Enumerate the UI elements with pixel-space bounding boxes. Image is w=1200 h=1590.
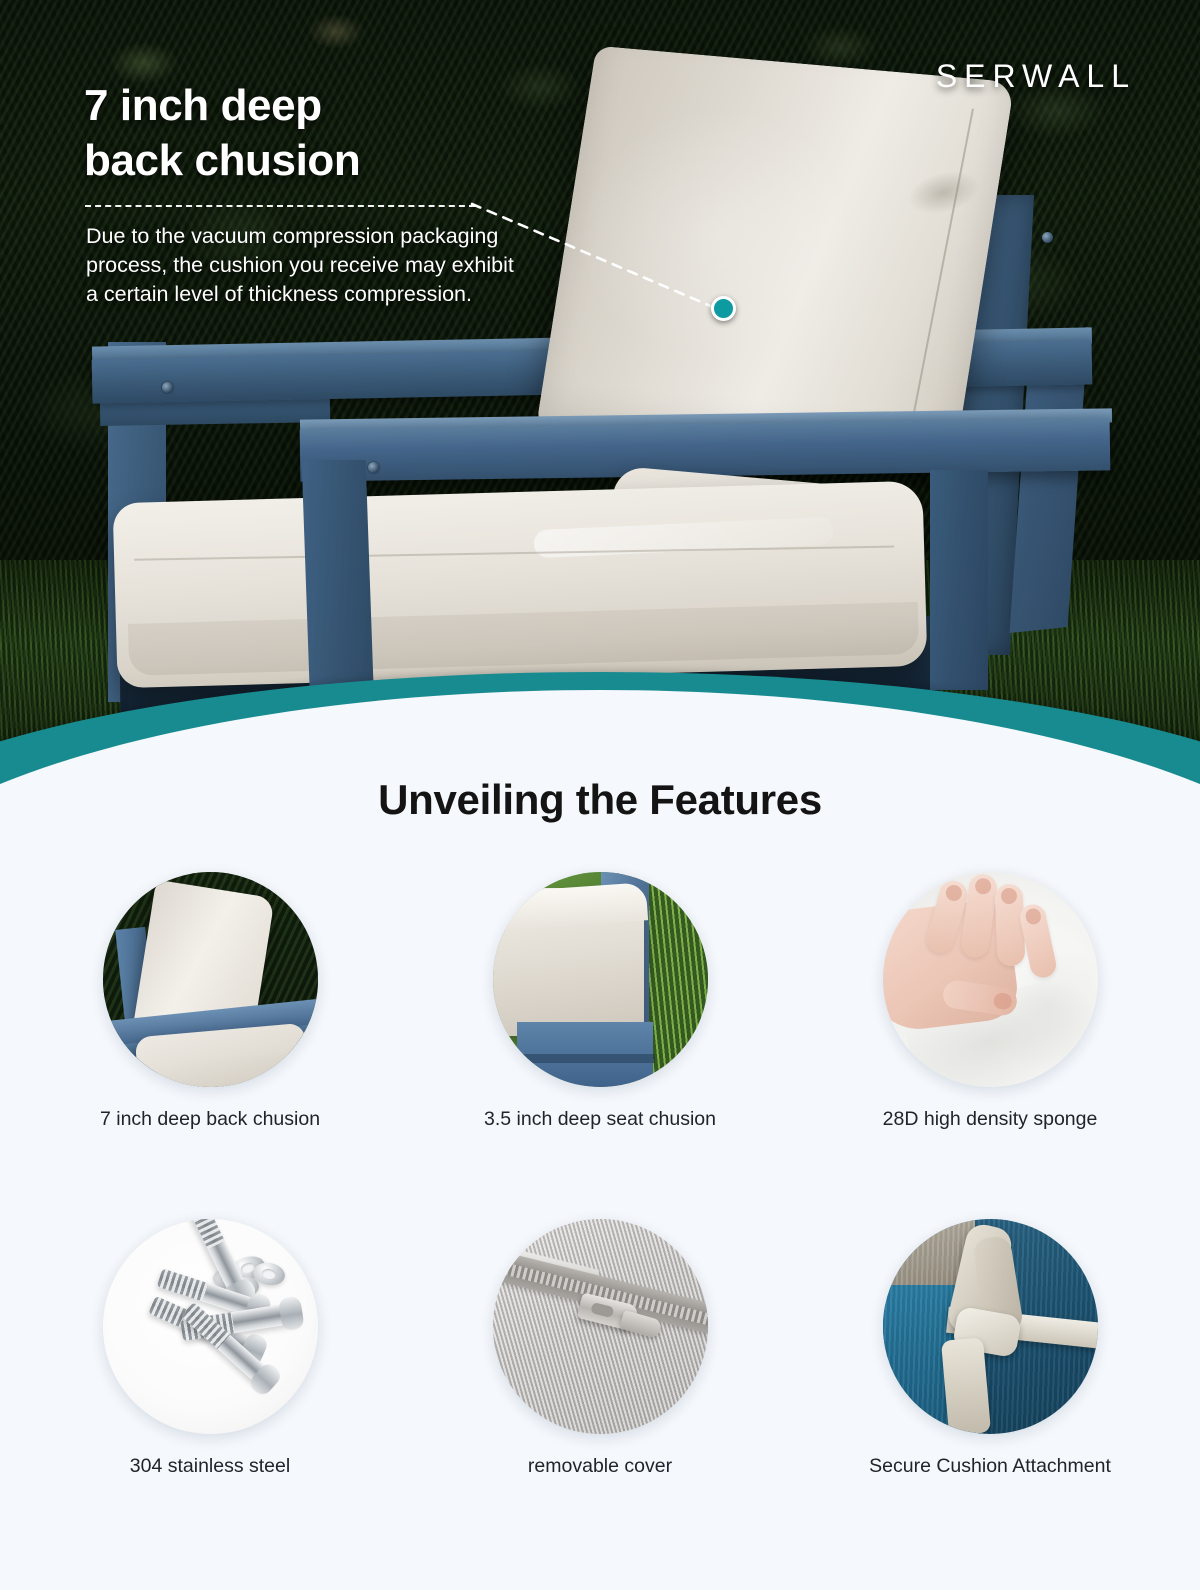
feature-caption: removable cover	[528, 1454, 672, 1478]
circle-finger	[994, 884, 1025, 967]
feature-item[interactable]: 7 inch deep back chusion	[103, 872, 318, 1131]
feature-caption: 28D high density sponge	[883, 1107, 1098, 1131]
screw-icon	[162, 382, 173, 393]
features-row-2: 304 stainless steel removable cover	[0, 1219, 1200, 1478]
chair-arm-post-left	[302, 460, 375, 710]
hero-body-text: Due to the vacuum compression packaging …	[86, 222, 526, 308]
back-cushion-fold	[906, 165, 982, 219]
feature-caption: Secure Cushion Attachment	[869, 1454, 1111, 1478]
feature-item[interactable]: 28D high density sponge	[883, 872, 1098, 1131]
feature-item[interactable]: 304 stainless steel	[103, 1219, 318, 1478]
feature-image-cushion-attachment	[883, 1219, 1098, 1434]
feature-item[interactable]: 3.5 inch deep seat chusion	[493, 872, 708, 1131]
brand-logo: SERWALL	[936, 58, 1136, 95]
chair-arm-post-right	[930, 470, 988, 690]
callout-dot-icon	[711, 296, 736, 321]
hero-title-line-2: back chusion	[84, 133, 360, 188]
feature-image-stainless-steel	[103, 1219, 318, 1434]
feature-caption: 7 inch deep back chusion	[100, 1107, 320, 1131]
feature-image-removable-cover	[493, 1219, 708, 1434]
feature-image-sponge	[883, 872, 1098, 1087]
feature-image-back-cushion	[103, 872, 318, 1087]
dashed-divider	[85, 205, 475, 207]
back-cushion-seam	[909, 109, 974, 435]
feature-caption: 3.5 inch deep seat chusion	[484, 1107, 716, 1131]
features-row-1: 7 inch deep back chusion 3.5 inch deep s…	[0, 872, 1200, 1131]
seat-cushion	[113, 481, 928, 689]
circle-tie-tail	[940, 1338, 990, 1435]
hero-title-line-1: 7 inch deep	[84, 78, 360, 133]
feature-item[interactable]: removable cover	[493, 1219, 708, 1478]
feature-item[interactable]: Secure Cushion Attachment	[883, 1219, 1098, 1478]
circle-chair-frame-seam	[517, 1054, 655, 1063]
screw-icon	[1042, 232, 1053, 243]
feature-caption: 304 stainless steel	[130, 1454, 290, 1478]
seat-cushion-band	[128, 602, 919, 676]
seat-cushion-crease	[134, 546, 894, 561]
hero-title: 7 inch deep back chusion	[84, 78, 360, 189]
screw-icon	[368, 462, 379, 473]
feature-image-seat-cushion	[493, 872, 708, 1087]
features-section: Unveiling the Features 7 inch deep back …	[0, 760, 1200, 1500]
features-heading: Unveiling the Features	[0, 776, 1200, 824]
features-grid: 7 inch deep back chusion 3.5 inch deep s…	[0, 872, 1200, 1479]
